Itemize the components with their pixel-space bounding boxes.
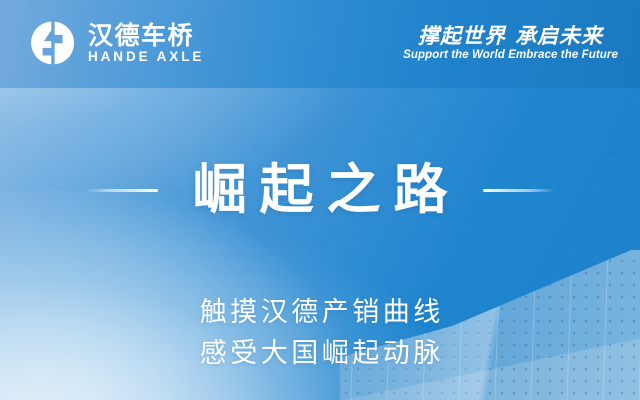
brand-lockup[interactable]: 汉德车桥 HANDE AXLE	[28, 20, 204, 68]
brand-name-english: HANDE AXLE	[88, 50, 204, 65]
hero-subtitle-line-2: 感受大国崛起动脉	[196, 339, 444, 369]
slogan-english: Support the World Embrace the Future	[403, 49, 618, 62]
brand-text-block: 汉德车桥 HANDE AXLE	[88, 23, 204, 65]
slogan-chinese-part1: 撑起世界	[418, 25, 506, 48]
hero-title-row: 崛起之路	[0, 162, 640, 219]
header-bar: 汉德车桥 HANDE AXLE 撑起世界承启未来 Support the Wor…	[0, 0, 640, 88]
decorative-rule-left-icon	[86, 189, 158, 192]
hero-subtitle-block: 触摸汉德产销曲线 感受大国崛起动脉	[0, 298, 640, 368]
decorative-rule-right-icon	[483, 189, 555, 192]
brand-name-chinese: 汉德车桥	[88, 23, 204, 50]
promotional-banner: 汉德车桥 HANDE AXLE 撑起世界承启未来 Support the Wor…	[0, 0, 640, 400]
hero-subtitle-line-1: 触摸汉德产销曲线	[196, 298, 444, 328]
hero-title: 崛起之路	[180, 162, 461, 219]
slogan-chinese: 撑起世界承启未来	[418, 25, 603, 48]
slogan-chinese-part2: 承启未来	[515, 25, 603, 48]
hande-circle-logo-icon	[28, 20, 76, 68]
slogan-lockup: 撑起世界承启未来 Support the World Embrace the F…	[403, 25, 624, 62]
